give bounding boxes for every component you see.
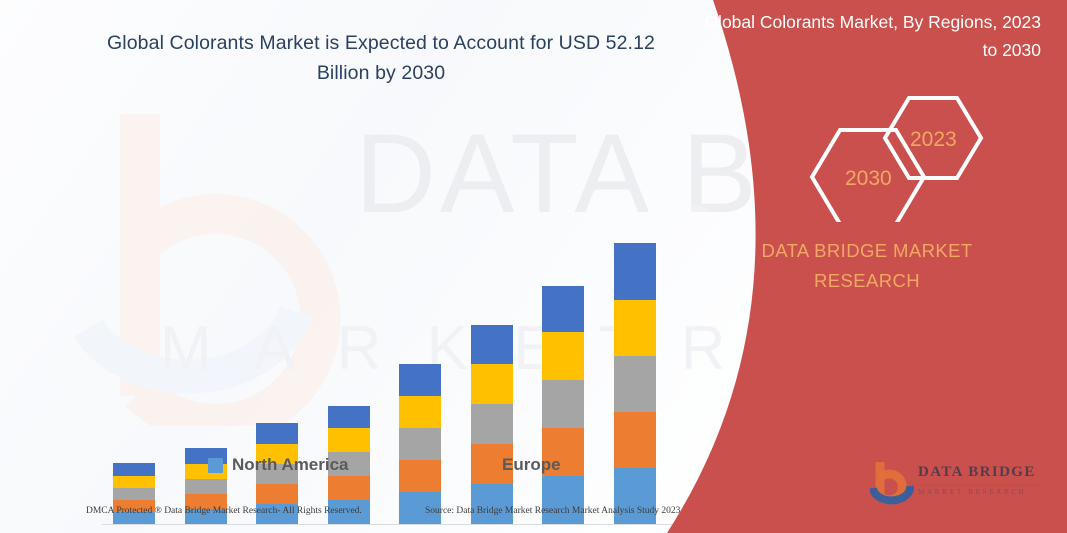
bar-segment-series-4: [542, 332, 584, 380]
bar-segment-series-3: [113, 488, 155, 500]
bar-segment-series-3: [185, 479, 227, 494]
legend-swatch-icon: [208, 458, 223, 473]
legend-item-north-america[interactable]: North America: [208, 455, 349, 475]
footer-source-text: Source: Data Bridge Market Research Mark…: [425, 506, 680, 516]
bar-segment-series-5: [256, 423, 298, 444]
hexagon-badges: 2030 2023: [667, 92, 1067, 222]
legend-item-europe[interactable]: Europe: [478, 455, 561, 475]
dbmr-logo-subtext: MARKET RESEARCH: [918, 488, 1027, 496]
legend-label: Europe: [502, 455, 561, 475]
footer: DMCA Protected ® Data Bridge Market Rese…: [0, 506, 760, 530]
bar-segment-series-4: [471, 364, 513, 404]
brand-line-1: DATA BRIDGE MARKET: [761, 240, 972, 261]
bar-segment-series-5: [542, 286, 584, 332]
bar-2028: [471, 325, 513, 524]
bar-segment-series-4: [399, 396, 441, 428]
bar-2029: [542, 286, 584, 524]
hexagon-2030-label: 2030: [845, 167, 892, 190]
bar-segment-series-5: [614, 243, 656, 300]
bar-segment-series-5: [399, 364, 441, 396]
chart-legend: North AmericaEurope: [86, 455, 686, 481]
footer-dmca-text: DMCA Protected ® Data Bridge Market Rese…: [86, 506, 362, 516]
legend-swatch-icon: [478, 458, 493, 473]
dbmr-logo-rule: [918, 484, 1040, 486]
dbmr-logo-wordmark: DATA BRIDGE: [918, 464, 1036, 481]
bar-segment-series-3: [542, 380, 584, 428]
bar-2030: [614, 243, 656, 524]
legend-label: North America: [232, 455, 349, 475]
brand-name: DATA BRIDGE MARKET RESEARCH: [687, 236, 1047, 296]
page-title: Global Colorants Market is Expected to A…: [96, 28, 666, 88]
stacked-bar-chart: 20232024202520262027202820292030: [86, 110, 686, 418]
bar-segment-series-4: [614, 300, 656, 356]
bar-segment-series-3: [471, 404, 513, 444]
dbmr-logo-mark: [870, 460, 916, 508]
panel-heading: Global Colorants Market, By Regions, 202…: [693, 8, 1041, 64]
bar-segment-series-4: [328, 428, 370, 452]
bar-segment-series-3: [614, 356, 656, 412]
bar-segment-europe: [256, 484, 298, 504]
right-panel: Global Colorants Market, By Regions, 202…: [667, 0, 1067, 533]
infographic-root: DATA BRIDGE M A R K E T R E S E A R C H …: [0, 0, 1067, 533]
bar-segment-series-5: [471, 325, 513, 364]
hexagon-2023-label: 2023: [910, 128, 957, 151]
dbmr-logo: DATA BRIDGE MARKET RESEARCH: [870, 458, 1050, 512]
bar-2027: [399, 364, 441, 524]
brand-line-2: RESEARCH: [814, 270, 920, 291]
hexagon-svg: 2030 2023: [667, 92, 1067, 222]
bar-segment-series-5: [328, 406, 370, 428]
